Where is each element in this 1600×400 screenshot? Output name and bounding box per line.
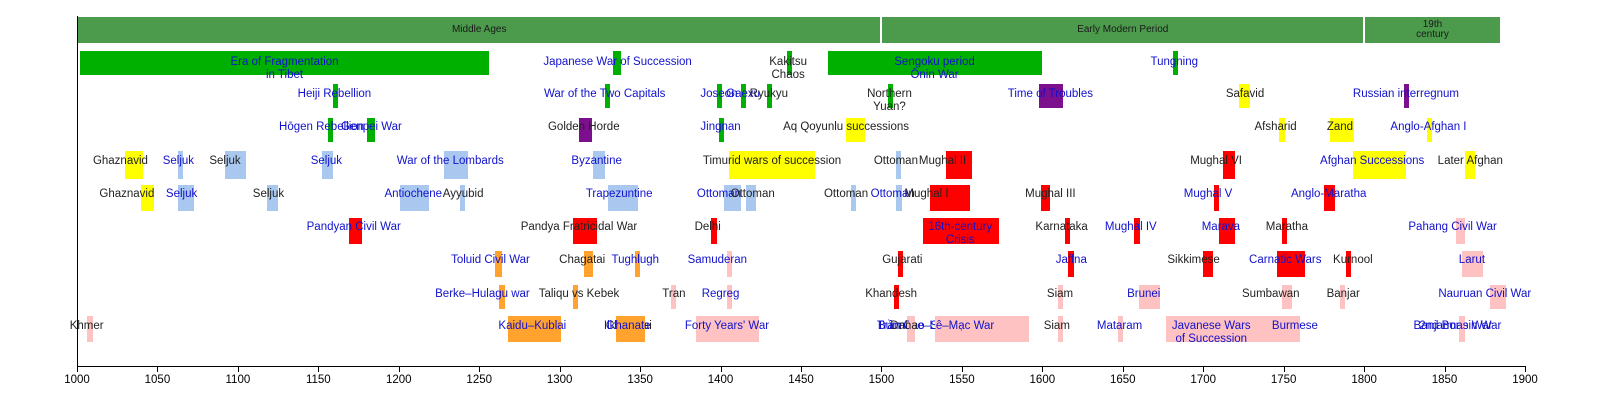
axis-left-spine <box>77 16 78 366</box>
axis-tick-label: 1750 <box>1271 374 1297 386</box>
axis-tick-label: 1250 <box>466 374 492 386</box>
timeline-event-bar <box>80 51 489 75</box>
timeline-event-bar <box>1353 151 1406 179</box>
axis-tick-label: 1650 <box>1110 374 1136 386</box>
timeline-event-bar <box>267 185 278 211</box>
timeline-event-bar <box>896 185 902 211</box>
axis-tick <box>479 366 480 372</box>
timeline-event-label: Taliqu vs Kebek <box>539 288 620 301</box>
timeline-event-bar <box>894 285 899 309</box>
axis-tick-label: 1850 <box>1432 374 1458 386</box>
era-segment: Early Modern Period <box>881 16 1364 44</box>
axis-tick <box>318 366 319 372</box>
timeline-event-bar <box>898 251 903 277</box>
timeline-event-bar <box>946 151 972 179</box>
timeline-event-label: Mughal III <box>1025 188 1076 201</box>
axis-tick-label: 1600 <box>1030 374 1056 386</box>
timeline-event-bar <box>729 151 816 179</box>
axis-tick <box>801 366 802 372</box>
timeline-event-bar <box>1459 316 1465 342</box>
timeline-event-bar <box>1065 218 1070 244</box>
timeline-event-bar <box>787 51 792 75</box>
timeline-event-bar <box>1324 185 1335 211</box>
timeline-event-bar <box>696 316 759 342</box>
timeline-event-bar <box>1462 251 1483 277</box>
axis-tick-label: 1350 <box>627 374 653 386</box>
timeline-event-label: Afsharid <box>1255 121 1297 134</box>
timeline-event-bar <box>1490 285 1506 309</box>
timeline-event-label: Hōgen Rebellion <box>279 121 364 134</box>
timeline-event-bar <box>1058 285 1063 309</box>
axis-tick <box>157 366 158 372</box>
axis-tick-label: 1300 <box>547 374 573 386</box>
axis-tick <box>1203 366 1204 372</box>
timeline-event-bar <box>495 251 501 277</box>
timeline-event-bar <box>1340 285 1345 309</box>
timeline-event-bar <box>579 118 592 142</box>
axis-tick <box>962 366 963 372</box>
timeline-event-bar <box>605 84 610 108</box>
axis-tick-label: 1200 <box>386 374 412 386</box>
timeline-event-bar <box>584 251 594 277</box>
timeline-event-bar <box>671 285 676 309</box>
timeline-event-bar <box>888 84 893 108</box>
timeline-event-bar <box>746 185 756 211</box>
timeline-event-bar <box>1404 84 1409 108</box>
axis-tick <box>1364 366 1365 372</box>
timeline-event-bar <box>909 316 915 342</box>
axis-tick-label: 1150 <box>306 374 331 386</box>
timeline-event-bar <box>225 151 246 179</box>
axis-tick <box>1445 366 1446 372</box>
timeline-event-bar <box>1173 51 1178 75</box>
timeline-event-bar <box>1068 251 1074 277</box>
timeline-event-label: Trần Cao <box>877 320 925 333</box>
timeline-event-label: Samuderan <box>688 254 747 267</box>
axis-tick <box>640 366 641 372</box>
axis-tick <box>399 366 400 372</box>
timeline-event-bar <box>851 185 856 211</box>
timeline-event-label: Toluid Civil War <box>451 254 530 267</box>
timeline-event-bar <box>608 185 639 211</box>
timeline-event-bar <box>508 316 561 342</box>
timeline-event-bar <box>400 185 429 211</box>
timeline-event-bar <box>1058 316 1063 342</box>
axis-tick-label: 1500 <box>869 374 895 386</box>
timeline-event-bar <box>1139 285 1160 309</box>
timeline-event-bar <box>1282 285 1292 309</box>
axis-tick <box>1525 366 1526 372</box>
timeline-event-bar <box>741 84 746 108</box>
timeline-event-label: Mughal V <box>1184 188 1233 201</box>
timeline-event-bar <box>444 151 468 179</box>
timeline-event-bar <box>125 151 143 179</box>
axis-tick <box>1284 366 1285 372</box>
timeline-event-bar <box>1330 118 1354 142</box>
timeline-event-bar <box>573 285 578 309</box>
timeline-event-bar <box>328 118 333 142</box>
timeline-event-bar <box>178 185 194 211</box>
timeline-event-bar <box>1118 316 1123 342</box>
timeline-event-bar <box>593 151 604 179</box>
timeline-event-bar <box>1287 316 1300 342</box>
timeline-event-bar <box>719 118 724 142</box>
axis-tick-label: 1700 <box>1190 374 1216 386</box>
axis-tick <box>238 366 239 372</box>
timeline-event-bar <box>717 84 722 108</box>
timeline-event-bar <box>727 251 732 277</box>
timeline-event-label: Kurnool <box>1333 254 1373 267</box>
timeline-event-label: Pahang Civil War <box>1408 221 1496 234</box>
axis-tick-label: 1550 <box>949 374 975 386</box>
timeline-event-bar <box>1203 251 1213 277</box>
timeline-event-bar <box>1239 84 1250 108</box>
axis-tick <box>1042 366 1043 372</box>
timeline-chart: Middle AgesEarly Modern Period19th centu… <box>0 0 1600 400</box>
timeline-event-bar <box>923 218 999 244</box>
timeline-event-label: 2nd Bone War <box>1419 320 1492 333</box>
timeline-event-bar <box>178 151 183 179</box>
timeline-event-bar <box>87 316 93 342</box>
timeline-event-bar <box>896 151 901 179</box>
timeline-event-bar <box>1134 218 1140 244</box>
axis-tick <box>77 366 78 372</box>
timeline-event-bar <box>1039 84 1063 108</box>
timeline-event-bar <box>635 251 640 277</box>
timeline-event-bar <box>1427 118 1432 142</box>
timeline-event-bar <box>322 151 333 179</box>
timeline-event-bar <box>1214 185 1219 211</box>
timeline-event-bar <box>1223 151 1236 179</box>
timeline-event-bar <box>1219 218 1235 244</box>
timeline-event-bar <box>767 84 772 108</box>
timeline-event-bar <box>499 285 505 309</box>
timeline-event-bar <box>711 218 717 244</box>
timeline-event-bar <box>1346 251 1351 277</box>
timeline-event-bar <box>1465 151 1475 179</box>
era-segment: Middle Ages <box>77 16 881 44</box>
axis-tick <box>721 366 722 372</box>
timeline-event-bar <box>460 185 465 211</box>
axis-tick-label: 1900 <box>1512 374 1538 386</box>
timeline-event-bar <box>367 118 375 142</box>
axis-tick-label: 1800 <box>1351 374 1377 386</box>
timeline-event-bar <box>333 84 338 108</box>
timeline-event-bar <box>727 285 732 309</box>
timeline-event-label: Nauruan Civil War <box>1438 288 1531 301</box>
timeline-event-bar <box>573 218 597 244</box>
timeline-event-label: Banjarmasin War <box>1414 320 1502 333</box>
timeline-event-bar <box>828 51 1042 75</box>
timeline-event-bar <box>1282 218 1287 244</box>
timeline-event-bar <box>1277 251 1304 277</box>
axis-tick-label: 1400 <box>708 374 734 386</box>
axis-tick-label: 1450 <box>788 374 814 386</box>
axis-tick-label: 1100 <box>226 374 251 386</box>
axis-tick <box>1123 366 1124 372</box>
timeline-event-label: Berke–Hulagu war <box>435 288 530 301</box>
timeline-event-label: Khandesh <box>865 288 917 301</box>
timeline-event-label: Ottoman <box>824 188 868 201</box>
timeline-event-bar <box>613 51 621 75</box>
axis-tick <box>560 366 561 372</box>
timeline-event-bar <box>724 185 742 211</box>
axis-tick-label: 1050 <box>145 374 171 386</box>
axis-tick <box>881 366 882 372</box>
timeline-event-label: Ottoman <box>871 188 915 201</box>
timeline-event-bar <box>1041 185 1051 211</box>
timeline-event-bar <box>349 218 362 244</box>
timeline-event-bar <box>1279 118 1285 142</box>
timeline-event-bar <box>930 185 970 211</box>
timeline-event-bar <box>141 185 154 211</box>
timeline-event-label: Regreg <box>702 288 740 301</box>
timeline-event-label: Mughal IV <box>1105 221 1157 234</box>
timeline-event-bar <box>1456 218 1466 244</box>
axis-tick-label: 1000 <box>64 374 90 386</box>
timeline-event-label: Chagatai <box>559 254 605 267</box>
timeline-event-label: Karnataka <box>1035 221 1087 234</box>
timeline-event-bar <box>616 316 645 342</box>
timeline-event-bar <box>1166 316 1291 342</box>
timeline-event-bar <box>935 316 1030 342</box>
timeline-event-bar <box>846 118 865 142</box>
timeline-event-label: Siam <box>1044 320 1070 333</box>
era-segment: 19th century <box>1364 16 1501 44</box>
